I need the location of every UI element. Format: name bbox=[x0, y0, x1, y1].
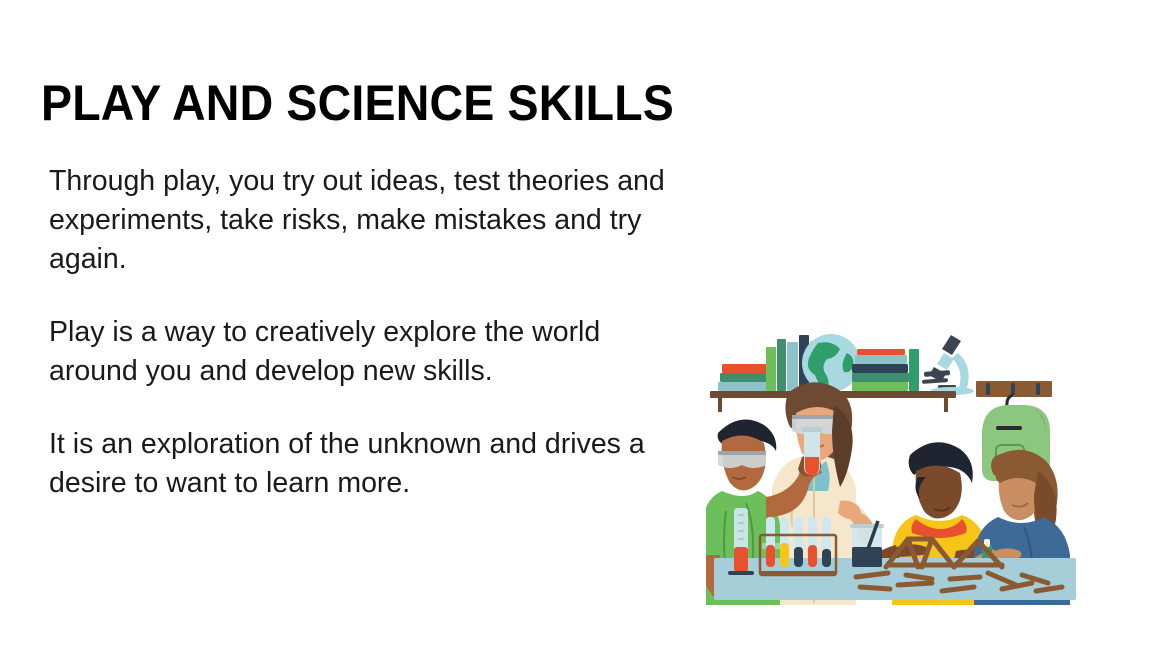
test-tube-rack bbox=[760, 517, 836, 575]
test-tube-held bbox=[802, 427, 822, 475]
slide-canvas: PLAY AND SCIENCE SKILLS Through play, yo… bbox=[0, 0, 1152, 648]
paragraph-3: It is an exploration of the unknown and … bbox=[49, 425, 679, 503]
paragraph-2: Play is a way to creatively explore the … bbox=[49, 313, 679, 391]
microscope-icon bbox=[922, 335, 974, 395]
beaker-with-stir-rod bbox=[850, 521, 884, 567]
coat-hook-rail-group bbox=[976, 381, 1052, 397]
paragraph-1: Through play, you try out ideas, test th… bbox=[49, 162, 679, 279]
body-text-block: Through play, you try out ideas, test th… bbox=[49, 162, 679, 503]
page-title: PLAY AND SCIENCE SKILLS bbox=[41, 75, 692, 131]
science-classroom-illustration bbox=[706, 305, 1082, 605]
